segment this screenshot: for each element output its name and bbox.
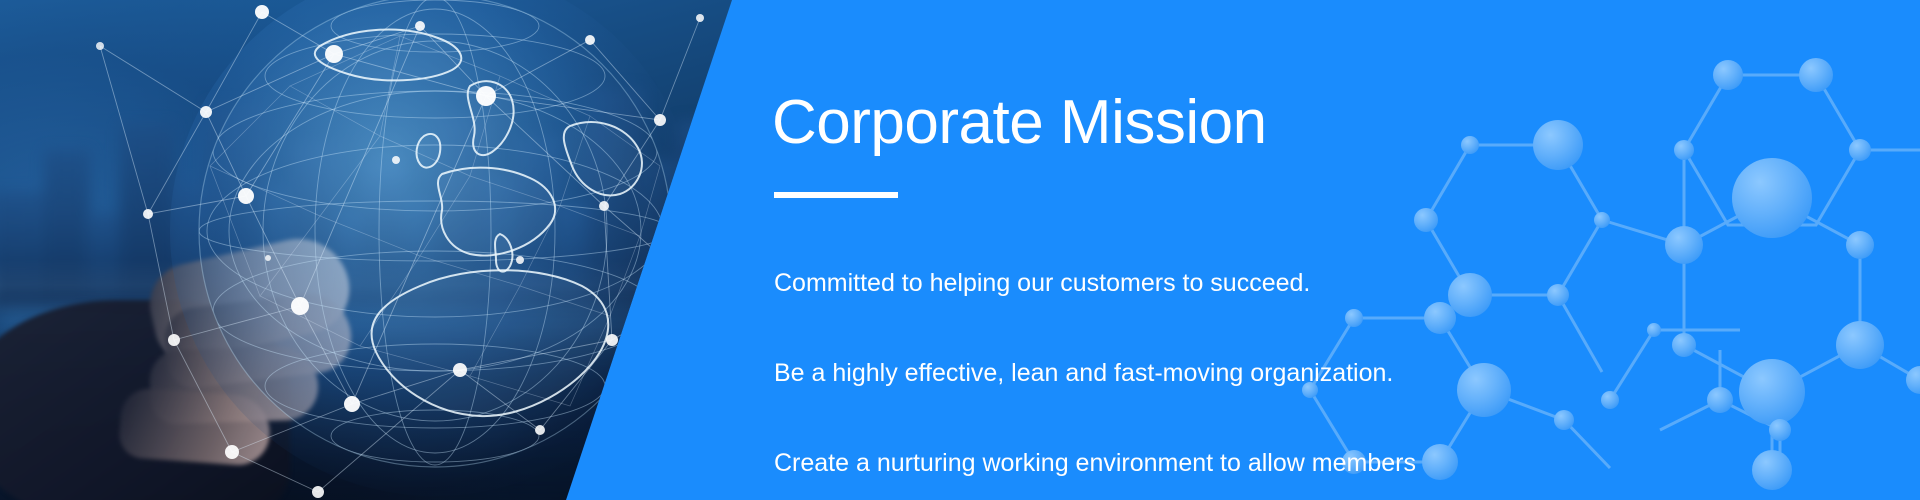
- mission-line-2: Be a highly effective, lean and fast-mov…: [774, 358, 1416, 388]
- mission-statement: Committed to helping our customers to su…: [774, 208, 1416, 500]
- corporate-mission-banner: Corporate Mission Committed to helping o…: [0, 0, 1920, 500]
- mission-line-1: Committed to helping our customers to su…: [774, 268, 1416, 298]
- banner-content: Corporate Mission Committed to helping o…: [772, 0, 1772, 500]
- title-divider: [774, 192, 898, 198]
- page-title: Corporate Mission: [772, 92, 1267, 154]
- mission-line-3: Create a nurturing working environment t…: [774, 448, 1416, 478]
